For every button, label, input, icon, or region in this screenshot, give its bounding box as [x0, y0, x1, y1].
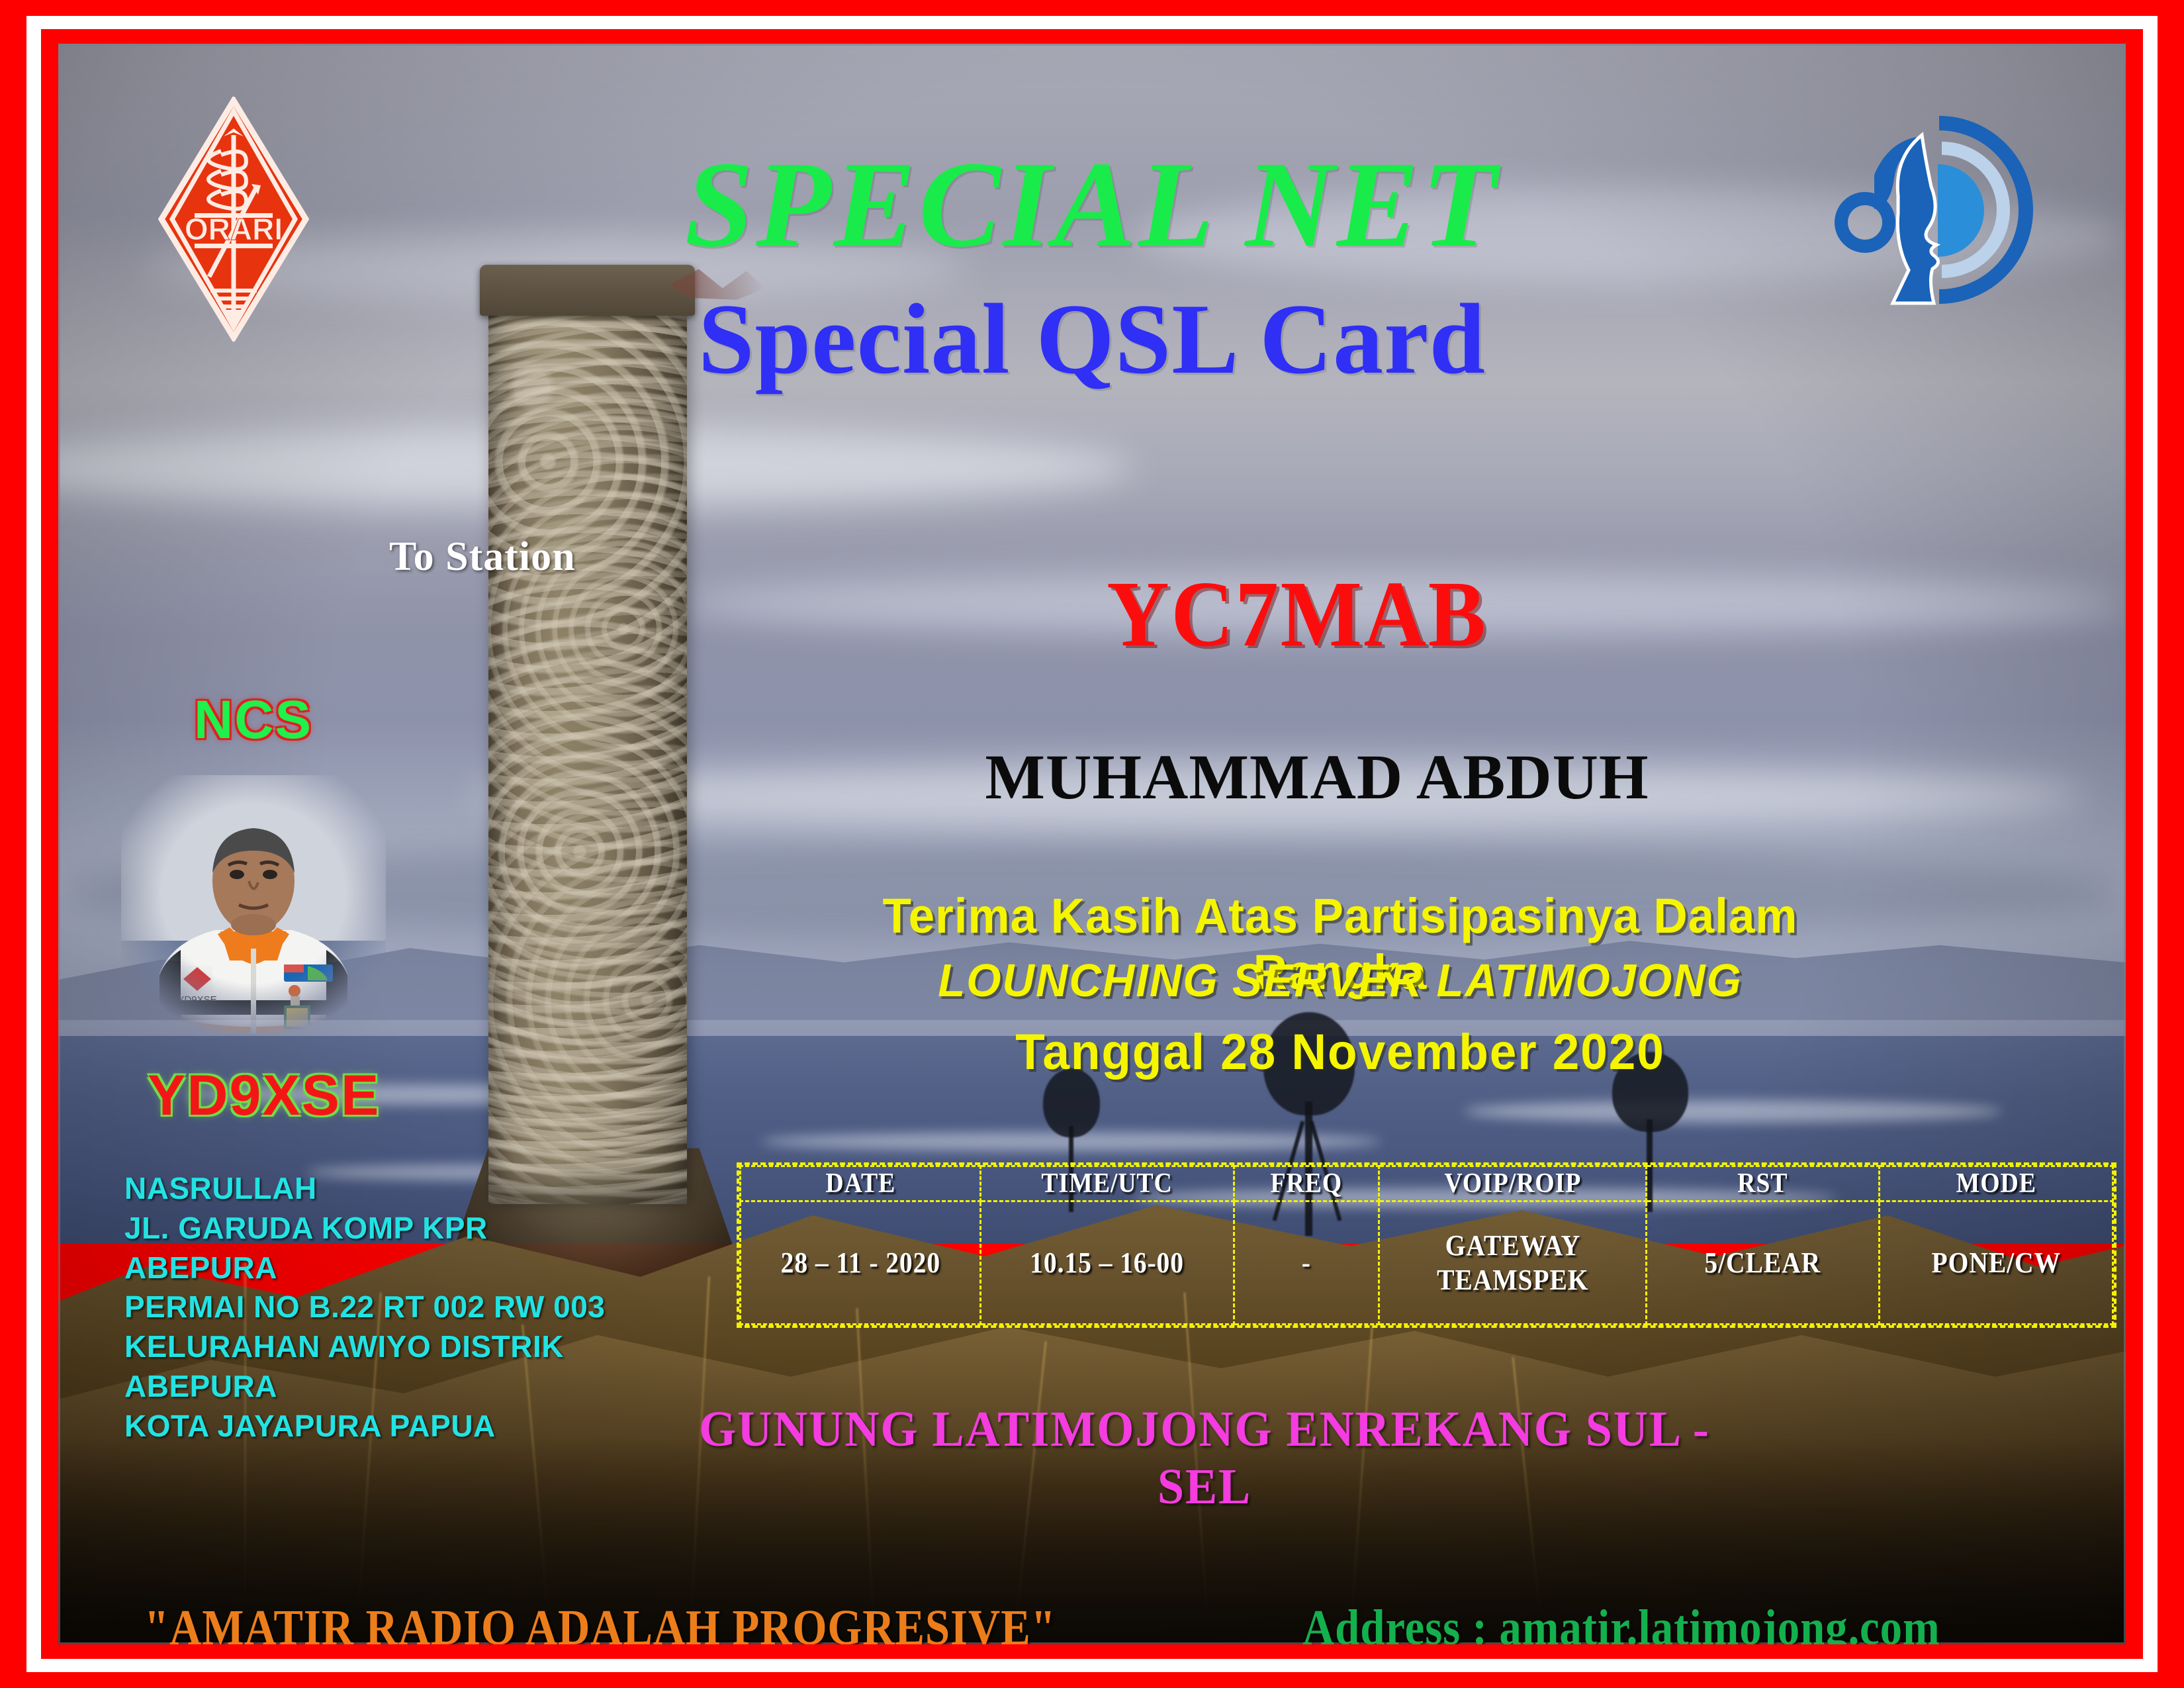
- to-station-label: To Station: [389, 534, 576, 581]
- cell-rst: 5/CLEAR: [1658, 1201, 1868, 1325]
- footer-web-address: Address : amatir.latimojong.com: [1302, 1599, 1940, 1644]
- cell-voip: GATEWAY TEAMSPEK: [1392, 1201, 1633, 1325]
- column-header-freq: FREQ: [1241, 1166, 1372, 1201]
- station-callsign: YC7MAB: [827, 567, 1767, 661]
- address-line: ABEPURA: [124, 1367, 667, 1407]
- column-header-rst: RST: [1658, 1166, 1868, 1201]
- operator-name: MUHAMMAD ABDUH: [786, 745, 1848, 809]
- column-header-mode: MODE: [1891, 1166, 2101, 1201]
- event-launch-line: LOUNCHING SERVER LATIMOJONG: [796, 954, 1884, 1007]
- address-line: PERMAI NO B.22 RT 002 RW 003: [124, 1288, 667, 1327]
- address-line: KELURAHAN AWIYO DISTRIK: [124, 1327, 667, 1367]
- footer-slogan: "AMATIR RADIO ADALAH PROGRESIVE": [144, 1599, 1056, 1644]
- cell-freq: -: [1241, 1201, 1372, 1325]
- card-photo-area: ORARI SPECIAL NET Special QSL Card To St…: [58, 44, 2126, 1644]
- address-line: ABEPURA: [124, 1248, 667, 1288]
- page-title: SPECIAL NET: [58, 143, 2126, 266]
- location-caption: GUNUNG LATIMOJONG ENREKANG SUL - SEL: [682, 1401, 1728, 1516]
- return-address-block: NASRULLAH JL. GARUDA KOMP KPR ABEPURA PE…: [124, 1169, 667, 1446]
- address-line: NASRULLAH: [124, 1169, 667, 1209]
- column-header-time: TIME/UTC: [993, 1166, 1221, 1201]
- svg-text:YD9XSE: YD9XSE: [177, 994, 216, 1006]
- column-header-voip: VOIP/ROIP: [1392, 1166, 1633, 1201]
- column-header-date: DATE: [752, 1166, 968, 1201]
- stone-pillar-monument: [488, 276, 687, 1204]
- haze-streak: [1464, 1100, 2001, 1123]
- cell-date: 28 – 11 - 2020: [752, 1201, 968, 1325]
- cell-time: 10.15 – 16-00: [993, 1201, 1221, 1325]
- table-header-row: DATE TIME/UTC FREQ VOIP/ROIP RST MODE: [741, 1166, 2113, 1201]
- address-line: JL. GARUDA KOMP KPR: [124, 1209, 667, 1248]
- table-row: 28 – 11 - 2020 10.15 – 16-00 - GATEWAY T…: [741, 1201, 2113, 1325]
- page-subtitle: Special QSL Card: [58, 289, 2126, 389]
- ncs-callsign: YD9XSE: [148, 1063, 380, 1129]
- ncs-label: NCS: [194, 689, 312, 751]
- qsl-card: ORARI SPECIAL NET Special QSL Card To St…: [0, 0, 2184, 1688]
- cell-mode: PONE/CW: [1891, 1201, 2101, 1325]
- event-date-line: Tanggal 28 November 2020: [796, 1023, 1884, 1081]
- address-line: KOTA JAYAPURA PAPUA: [124, 1407, 667, 1446]
- qso-log-table: DATE TIME/UTC FREQ VOIP/ROIP RST MODE 28…: [737, 1162, 2116, 1328]
- operator-portrait-photo: YD9XSE: [121, 775, 386, 1033]
